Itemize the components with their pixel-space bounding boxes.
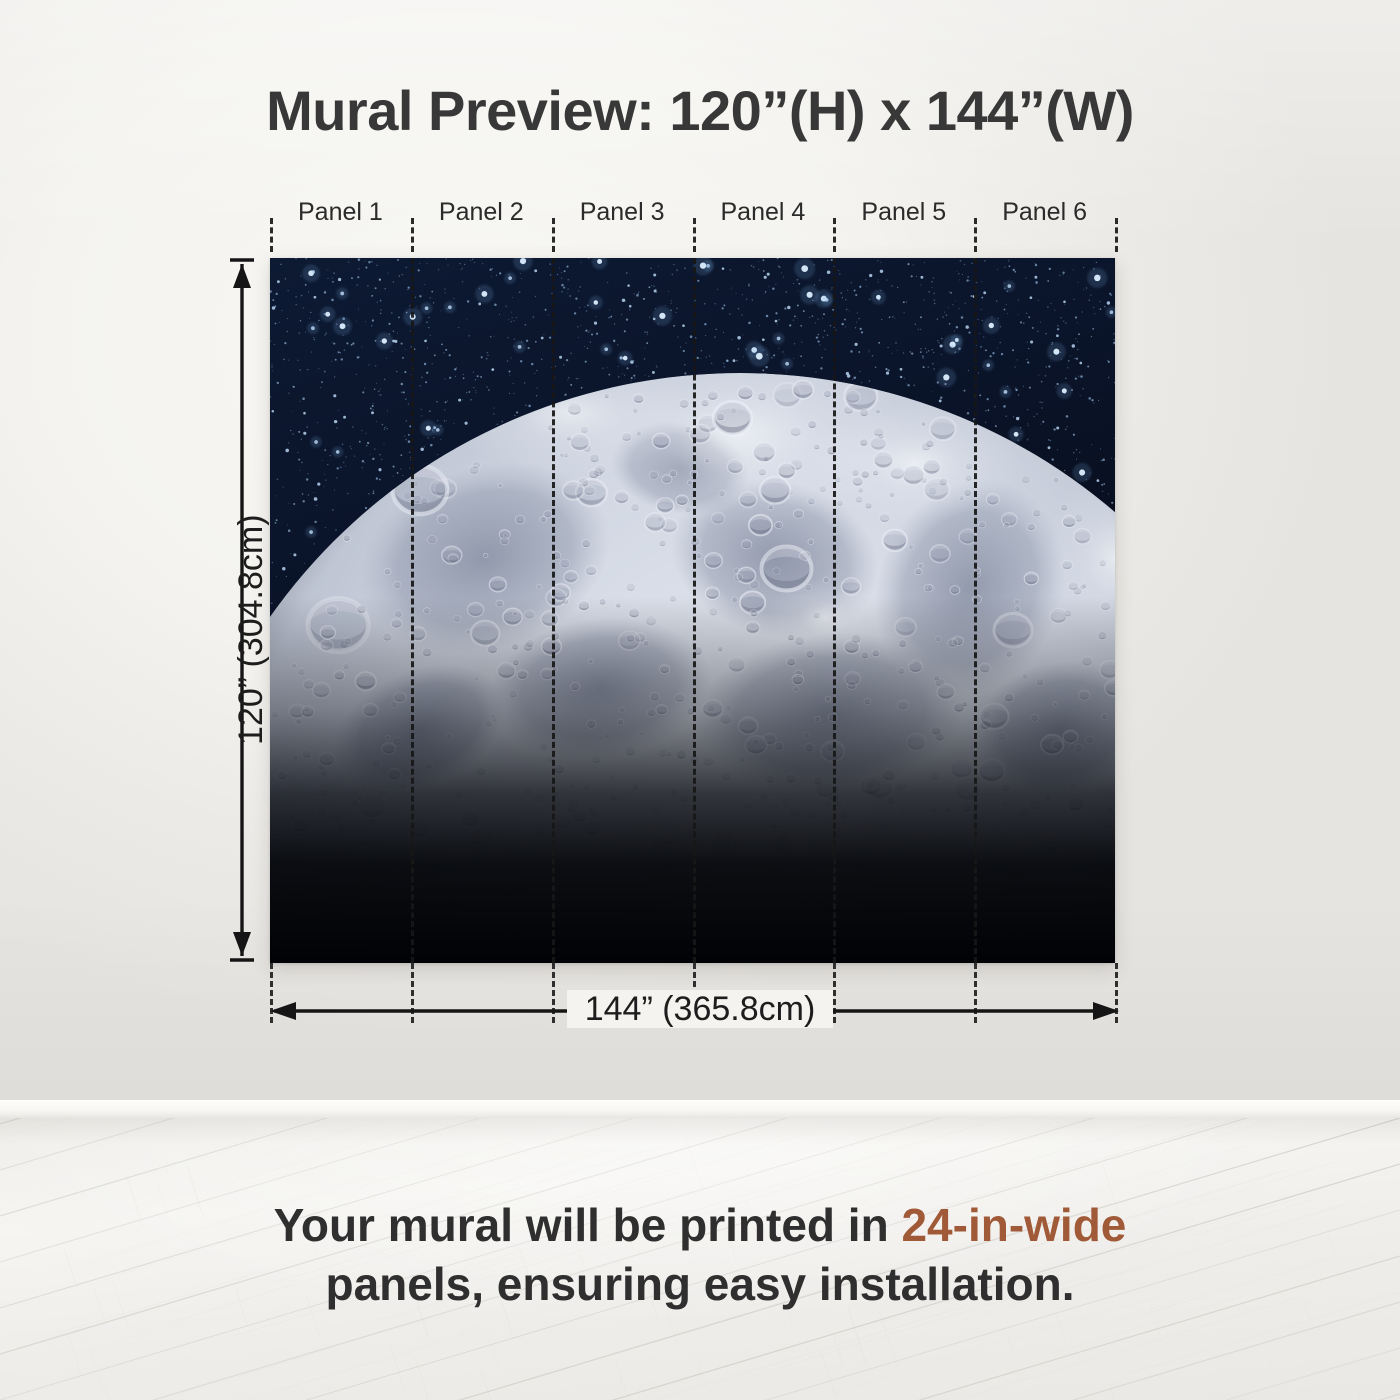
- panel-tick-5: [974, 218, 977, 252]
- panel-divider-3: [693, 258, 696, 963]
- baseboard: [0, 1100, 1400, 1119]
- panel-tick-3: [693, 218, 696, 252]
- panel-label-2: Panel 2: [439, 198, 524, 227]
- panel-label-5: Panel 5: [861, 198, 946, 227]
- panel-divider-2: [552, 258, 555, 963]
- panel-tick-4: [833, 218, 836, 252]
- mural-preview-scene: Mural Preview: 120”(H) x 144”(W): [0, 0, 1400, 1400]
- caption-highlight: 24-in-wide: [901, 1199, 1126, 1251]
- mural-preview-container: Panel 1 Panel 2 Panel 3 Panel 4 Panel 5 …: [270, 258, 1115, 963]
- panel-label-3: Panel 3: [580, 198, 665, 227]
- panel-tick-0: [270, 218, 273, 252]
- width-dimension-label: 144” (365.8cm): [0, 990, 1400, 1029]
- caption-text-before: Your mural will be printed in: [274, 1199, 902, 1251]
- panel-label-4: Panel 4: [720, 198, 805, 227]
- footer-caption: Your mural will be printed in 24-in-wide…: [0, 1196, 1400, 1314]
- height-dimension-label: 120” (304.8cm): [232, 445, 271, 745]
- panel-divider-1: [411, 258, 414, 963]
- panel-label-1: Panel 1: [298, 198, 383, 227]
- caption-line-1: Your mural will be printed in 24-in-wide: [0, 1196, 1400, 1255]
- panel-label-6: Panel 6: [1002, 198, 1087, 227]
- panel-tick-2: [552, 218, 555, 252]
- panel-tick-6: [1115, 218, 1118, 252]
- caption-line-2: panels, ensuring easy installation.: [0, 1255, 1400, 1314]
- panel-tick-1: [411, 218, 414, 252]
- width-dimension-text: 144” (365.8cm): [567, 990, 834, 1028]
- panel-divider-5: [974, 258, 977, 963]
- page-title: Mural Preview: 120”(H) x 144”(W): [0, 78, 1400, 143]
- panel-divider-4: [833, 258, 836, 963]
